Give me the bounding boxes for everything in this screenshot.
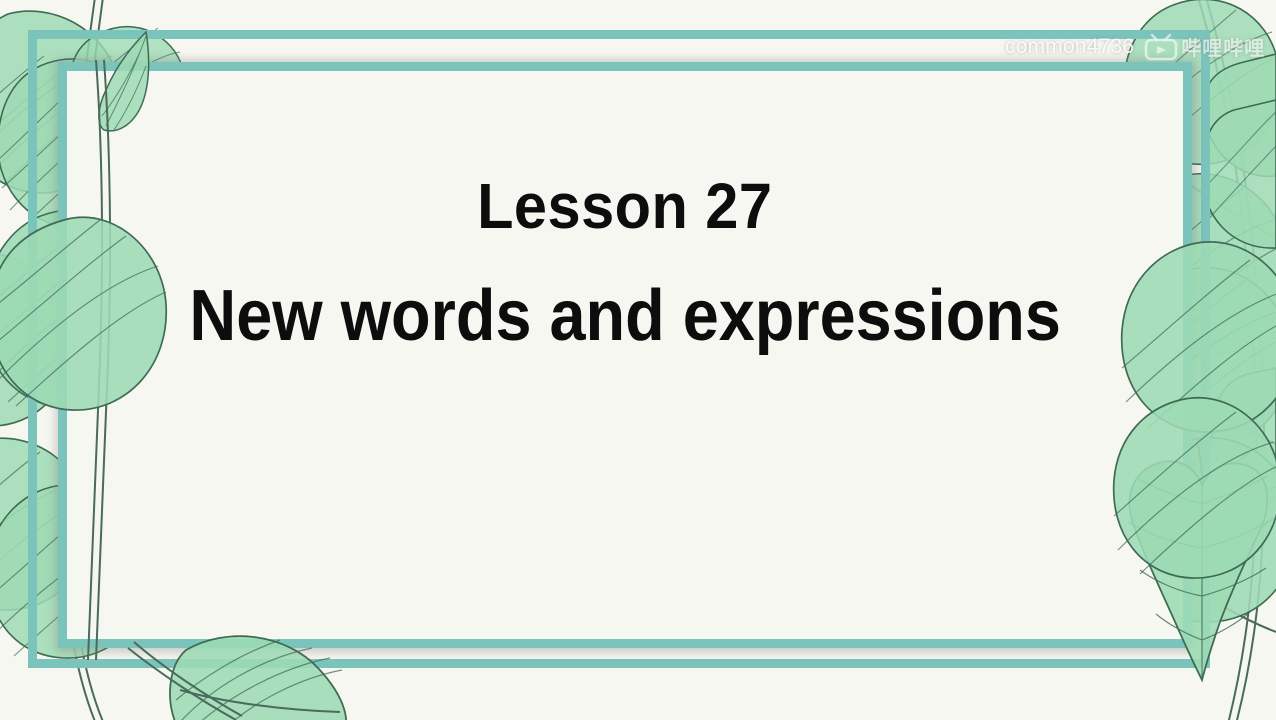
lesson-subtitle: New words and expressions: [189, 280, 1060, 352]
lesson-title: Lesson 27: [477, 174, 772, 238]
slide-canvas: Lesson 27 New words and expressions: [0, 0, 1276, 720]
slide-content: Lesson 27 New words and expressions: [58, 62, 1192, 648]
